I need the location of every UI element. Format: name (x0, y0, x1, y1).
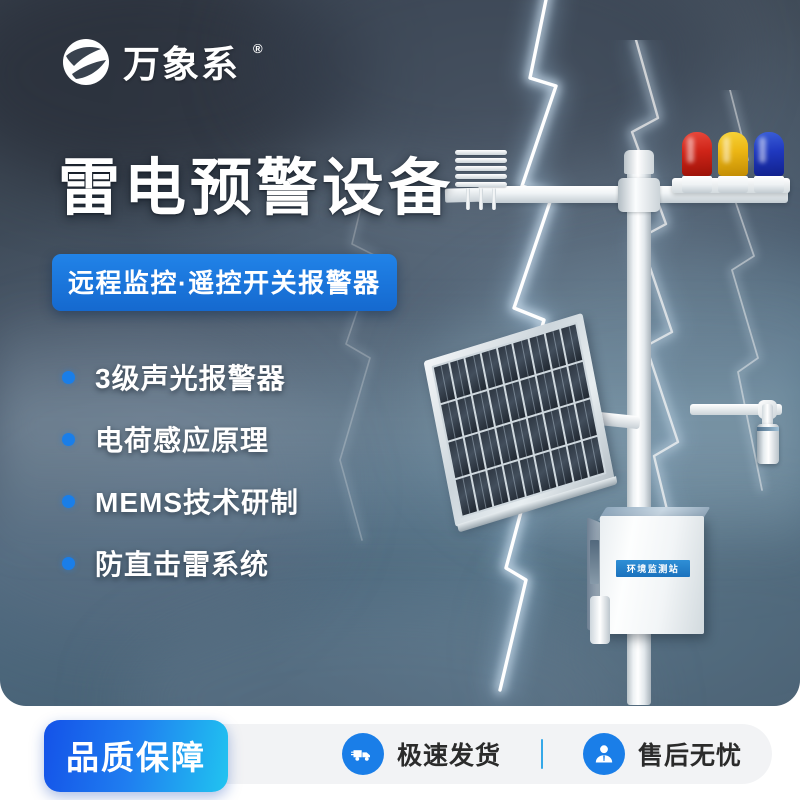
feature-item-2: 电荷感应原理 (62, 408, 299, 470)
feature-item-3: MEMS技术研制 (62, 470, 299, 532)
bullet-dot-icon (62, 495, 75, 508)
bullet-dot-icon (62, 371, 75, 384)
service-footer: 极速发货售后无忧 品质保障 (0, 706, 800, 800)
radiation-shield-sensor (455, 150, 507, 188)
support-agent-icon (583, 733, 625, 775)
mast-collar-clamp (618, 178, 660, 212)
yellow-alarm-beacon (718, 132, 748, 193)
brand-name: 万象系 (123, 46, 240, 83)
product-banner: 环境监测站 万象系 ® 雷电预警设备 远程监控·遥控开关报警器 3级声光报警器电… (0, 0, 800, 800)
service-label: 售后无忧 (638, 736, 742, 772)
feature-label: 3级声光报警器 (95, 357, 286, 397)
page-title: 雷电预警设备 (58, 156, 454, 221)
feature-item-4: 防直击雷系统 (62, 532, 299, 594)
service-pill: 极速发货售后无忧 (152, 724, 772, 784)
box-cable-pipe (590, 596, 610, 644)
mast-cap (624, 150, 654, 174)
brand-logo: 万象系 ® (60, 36, 261, 88)
feature-item-1: 3级声光报警器 (62, 346, 299, 408)
box-vent (590, 540, 599, 584)
globe-swoosh-logo-icon (60, 36, 112, 88)
bullet-dot-icon (62, 433, 75, 446)
trademark-symbol: ® (253, 41, 263, 56)
feature-list: 3级声光报警器电荷感应原理MEMS技术研制防直击雷系统 (62, 346, 299, 594)
bullet-dot-icon (62, 557, 75, 570)
red-alarm-beacon (682, 132, 712, 193)
delivery-truck-icon (342, 733, 384, 775)
service-item-2: 售后无忧 (583, 733, 742, 775)
feature-label: MEMS技术研制 (95, 481, 299, 521)
control-box-label: 环境监测站 (616, 560, 690, 577)
subtitle-badge: 远程监控·遥控开关报警器 (52, 254, 397, 311)
hero-background: 环境监测站 万象系 ® 雷电预警设备 远程监控·遥控开关报警器 3级声光报警器电… (0, 0, 800, 706)
solar-panel (424, 313, 615, 527)
blue-alarm-beacon (754, 132, 784, 193)
service-item-1: 极速发货 (342, 733, 501, 775)
service-divider (541, 739, 543, 769)
service-label: 极速发货 (397, 736, 501, 772)
feature-label: 电荷感应原理 (95, 419, 269, 459)
camera-sensor-icon (757, 424, 779, 464)
quality-badge: 品质保障 (44, 720, 228, 792)
shield-support-legs (466, 188, 496, 210)
feature-label: 防直击雷系统 (95, 543, 269, 583)
control-box: 环境监测站 (600, 516, 704, 634)
